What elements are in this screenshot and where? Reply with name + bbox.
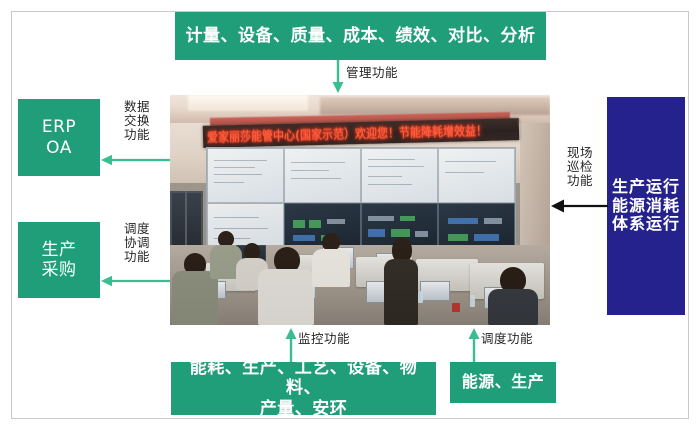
- dispatch-coordination-arrow: [101, 274, 171, 288]
- box-purchase-line2: 采购: [42, 260, 77, 280]
- video-wall-cell: [438, 148, 515, 203]
- box-bottom1-line2: 产量、安环: [177, 399, 430, 419]
- video-wall-cell: [284, 148, 361, 203]
- data-exchange-label-line3: 功能: [110, 128, 164, 142]
- management-arrow-label: 管理功能: [346, 66, 416, 80]
- site-inspection-label-line3: 功能: [558, 174, 602, 188]
- box-energy-production[interactable]: 能源、生产: [450, 362, 556, 403]
- site-inspection-arrow: [551, 198, 609, 214]
- dispatch-label-line2: 协调: [110, 236, 164, 250]
- box-production-purchase[interactable]: 生产 采购: [18, 222, 100, 298]
- box-right-line1: 生产运行: [612, 178, 680, 197]
- box-bottom1-line1: 能耗、生产、工艺、设备、物料、: [177, 358, 430, 398]
- data-exchange-arrow: [101, 153, 171, 167]
- control-room-photo: 爱家丽莎能管中心(国家示范）欢迎您！节能降耗增效益！: [170, 95, 550, 325]
- photo-water-bottle: [470, 295, 475, 307]
- box-erp-line2: OA: [46, 138, 72, 158]
- management-arrow: [330, 60, 346, 94]
- site-inspection-label-line1: 现场: [558, 146, 602, 160]
- box-monitoring-sources[interactable]: 能耗、生产、工艺、设备、物料、 产量、安环: [171, 362, 436, 415]
- box-production-energy-system[interactable]: 生产运行 能源消耗 体系运行: [607, 97, 685, 315]
- photo-ceiling-shadow: [320, 97, 550, 115]
- photo-water-bottle: [418, 291, 423, 303]
- photo-red-object: [452, 303, 460, 312]
- box-right-line3: 体系运行: [612, 215, 680, 234]
- data-exchange-label-line2: 交换: [110, 114, 164, 128]
- dispatch-label-line3: 功能: [110, 250, 164, 264]
- photo-ceiling-light: [188, 95, 308, 111]
- photo-window-mullion: [185, 191, 187, 253]
- site-inspection-label-line2: 巡检: [558, 160, 602, 174]
- site-inspection-arrow-label: 现场 巡检 功能: [558, 146, 602, 187]
- data-exchange-label-line1: 数据: [110, 100, 164, 114]
- diagram-canvas: 爱家丽莎能管中心(国家示范）欢迎您！节能降耗增效益！: [0, 0, 700, 430]
- data-exchange-arrow-label: 数据 交换 功能: [110, 100, 164, 141]
- video-wall-cell: [207, 148, 284, 203]
- dispatch-label-line1: 调度: [110, 222, 164, 236]
- photo-laptop: [420, 281, 450, 301]
- box-erp-oa[interactable]: ERP OA: [18, 99, 100, 176]
- box-erp-line1: ERP: [42, 117, 76, 137]
- monitoring-arrow-label: 监控功能: [298, 332, 368, 346]
- box-management-functions[interactable]: 计量、设备、质量、成本、绩效、对比、分析: [175, 12, 546, 60]
- dispatch-coordination-arrow-label: 调度 协调 功能: [110, 222, 164, 263]
- box-right-line2: 能源消耗: [612, 197, 680, 216]
- monitoring-arrow: [283, 328, 299, 362]
- scheduling-arrow: [466, 328, 482, 362]
- video-wall-cell: [361, 148, 438, 203]
- scheduling-arrow-label: 调度功能: [481, 332, 551, 346]
- box-purchase-line1: 生产: [42, 240, 77, 260]
